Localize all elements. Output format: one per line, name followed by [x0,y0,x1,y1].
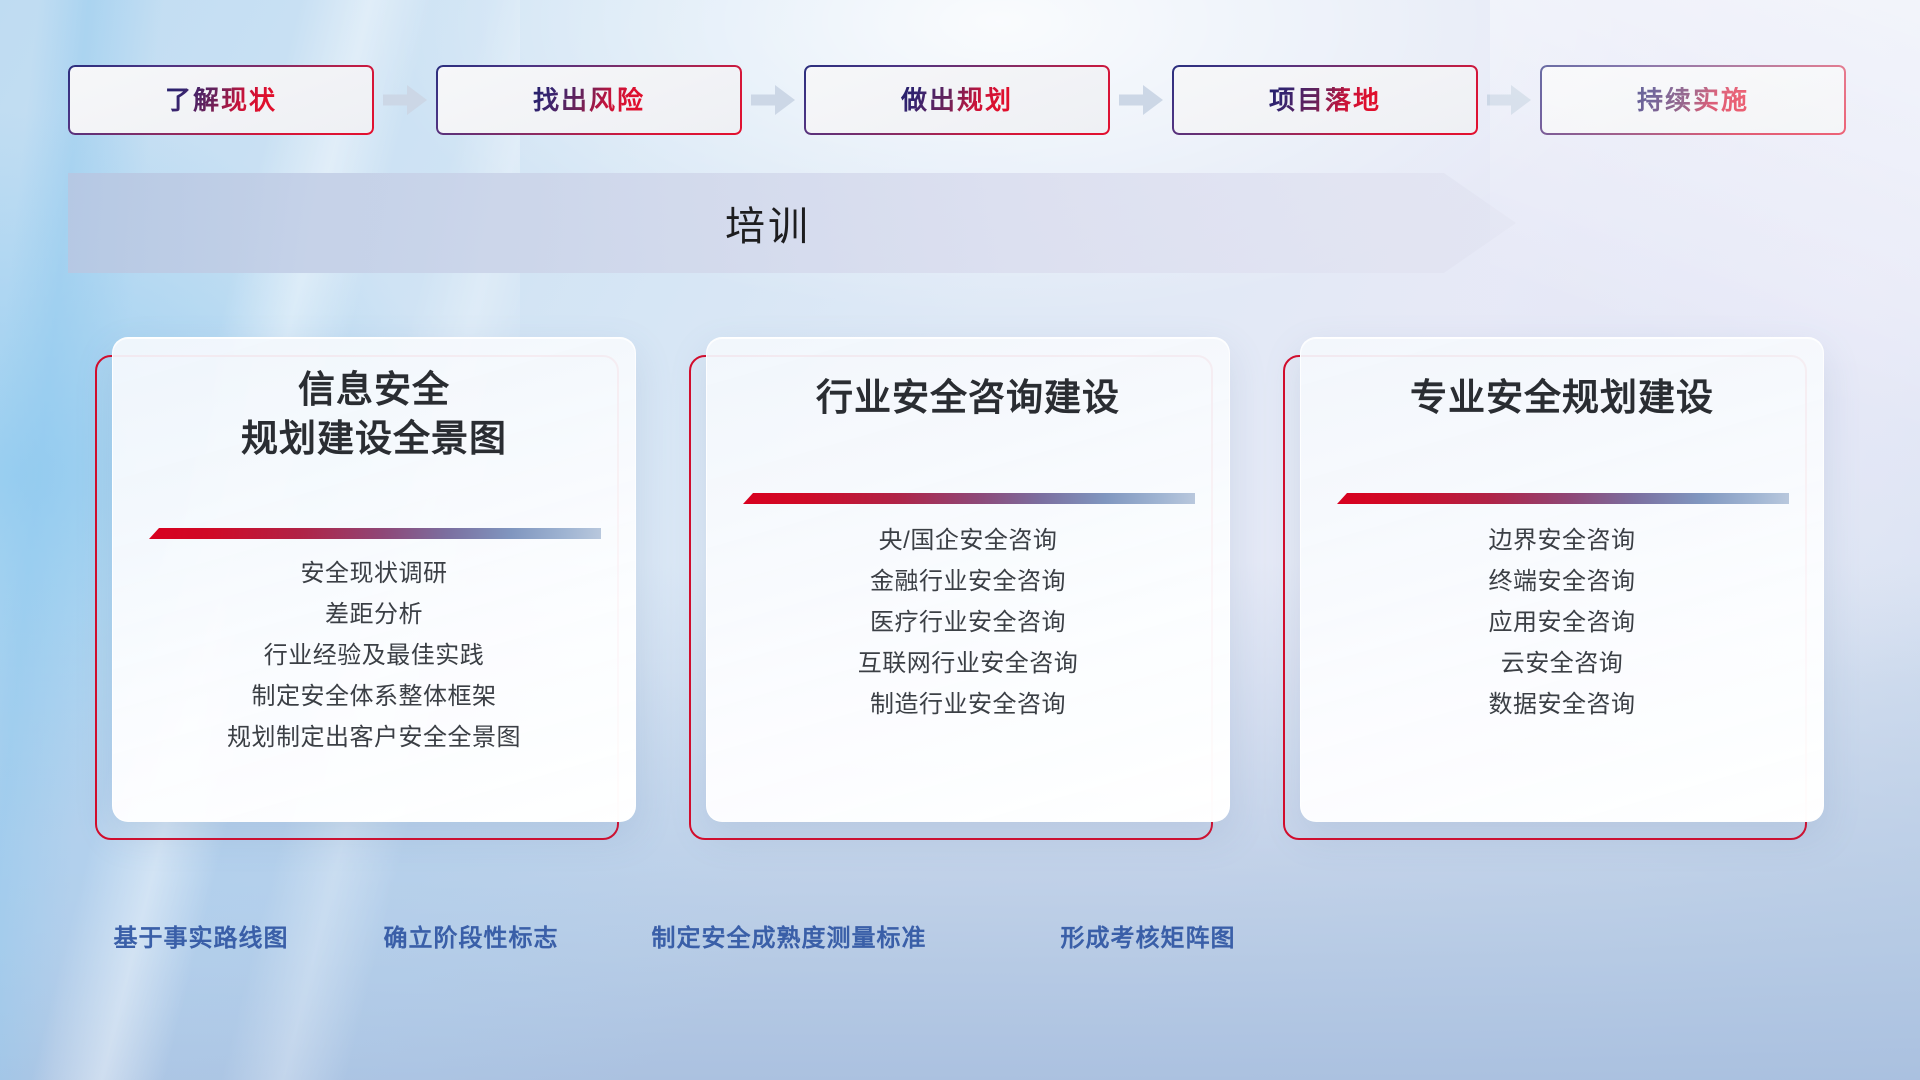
card-title: 信息安全 规划建设全景图 [113,366,635,464]
list-item: 边界安全咨询 [1489,520,1636,561]
process-step-2[interactable]: 找出风险 [436,65,742,135]
footnote-label-4: 形成考核矩阵图 [1061,918,1236,953]
process-step-1[interactable]: 了解现状 [68,65,374,135]
list-item: 应用安全咨询 [1489,602,1636,643]
card-panel: 信息安全 规划建设全景图 安全现状调研 差距分析 行业经验及最佳实践 制定安全体… [112,337,636,822]
training-banner: 培训 [68,173,1516,273]
list-item: 云安全咨询 [1501,643,1624,684]
list-item: 数据安全咨询 [1489,684,1636,725]
list-item: 制定安全体系整体框架 [252,676,497,717]
capability-card-2[interactable]: 行业安全咨询建设 央/国企安全咨询 金融行业安全咨询 医疗行业安全咨询 互联网行… [689,337,1230,847]
process-step-label: 持续实施 [1637,87,1749,113]
footnote-label-3: 制定安全成熟度测量标准 [652,918,927,953]
process-step-label: 找出风险 [533,87,645,113]
capability-card-1[interactable]: 信息安全 规划建设全景图 安全现状调研 差距分析 行业经验及最佳实践 制定安全体… [95,337,636,847]
arrow-right-icon [374,65,436,135]
arrow-right-icon [1478,65,1540,135]
process-step-4[interactable]: 项目落地 [1172,65,1478,135]
list-item: 央/国企安全咨询 [879,520,1058,561]
list-item: 安全现状调研 [301,553,448,594]
card-title-line: 专业安全规划建设 [1319,374,1805,423]
list-item: 制造行业安全咨询 [870,684,1066,725]
card-panel: 行业安全咨询建设 央/国企安全咨询 金融行业安全咨询 医疗行业安全咨询 互联网行… [706,337,1230,822]
process-step-strip: 了解现状 找出风险 做出规划 项目落地 [68,65,1852,135]
card-title-line: 规划建设全景图 [131,415,617,464]
card-title: 专业安全规划建设 [1301,374,1823,423]
process-step-3[interactable]: 做出规划 [804,65,1110,135]
list-item: 医疗行业安全咨询 [870,602,1066,643]
card-title: 行业安全咨询建设 [707,374,1229,423]
card-item-list: 安全现状调研 差距分析 行业经验及最佳实践 制定安全体系整体框架 规划制定出客户… [113,553,635,758]
card-divider-rule [743,493,1195,504]
card-title-line: 行业安全咨询建设 [725,374,1211,423]
capability-card-row: 信息安全 规划建设全景图 安全现状调研 差距分析 行业经验及最佳实践 制定安全体… [95,337,1825,847]
arrow-right-icon [742,65,804,135]
list-item: 互联网行业安全咨询 [858,643,1079,684]
list-item: 行业经验及最佳实践 [264,635,485,676]
card-item-list: 边界安全咨询 终端安全咨询 应用安全咨询 云安全咨询 数据安全咨询 [1301,520,1823,725]
footnote-label-1: 基于事实路线图 [114,918,289,953]
card-title-line: 信息安全 [131,366,617,415]
list-item: 规划制定出客户安全全景图 [227,717,521,758]
banner-label: 培训 [68,173,1468,273]
card-panel: 专业安全规划建设 边界安全咨询 终端安全咨询 应用安全咨询 云安全咨询 数据安全… [1300,337,1824,822]
capability-card-3[interactable]: 专业安全规划建设 边界安全咨询 终端安全咨询 应用安全咨询 云安全咨询 数据安全… [1283,337,1824,847]
process-step-5[interactable]: 持续实施 [1540,65,1846,135]
card-divider-rule [1337,493,1789,504]
list-item: 终端安全咨询 [1489,561,1636,602]
footnote-label-2: 确立阶段性标志 [384,918,559,953]
card-item-list: 央/国企安全咨询 金融行业安全咨询 医疗行业安全咨询 互联网行业安全咨询 制造行… [707,520,1229,725]
process-step-label: 了解现状 [165,87,277,113]
card-divider-rule [149,528,601,539]
footnote-row: 基于事实路线图 确立阶段性标志 制定安全成熟度测量标准 形成考核矩阵图 [0,918,1920,958]
process-step-label: 做出规划 [901,87,1013,113]
list-item: 差距分析 [325,594,423,635]
slide-canvas: 了解现状 找出风险 做出规划 项目落地 [0,0,1920,1080]
list-item: 金融行业安全咨询 [870,561,1066,602]
process-step-label: 项目落地 [1269,87,1381,113]
arrow-right-icon [1110,65,1172,135]
